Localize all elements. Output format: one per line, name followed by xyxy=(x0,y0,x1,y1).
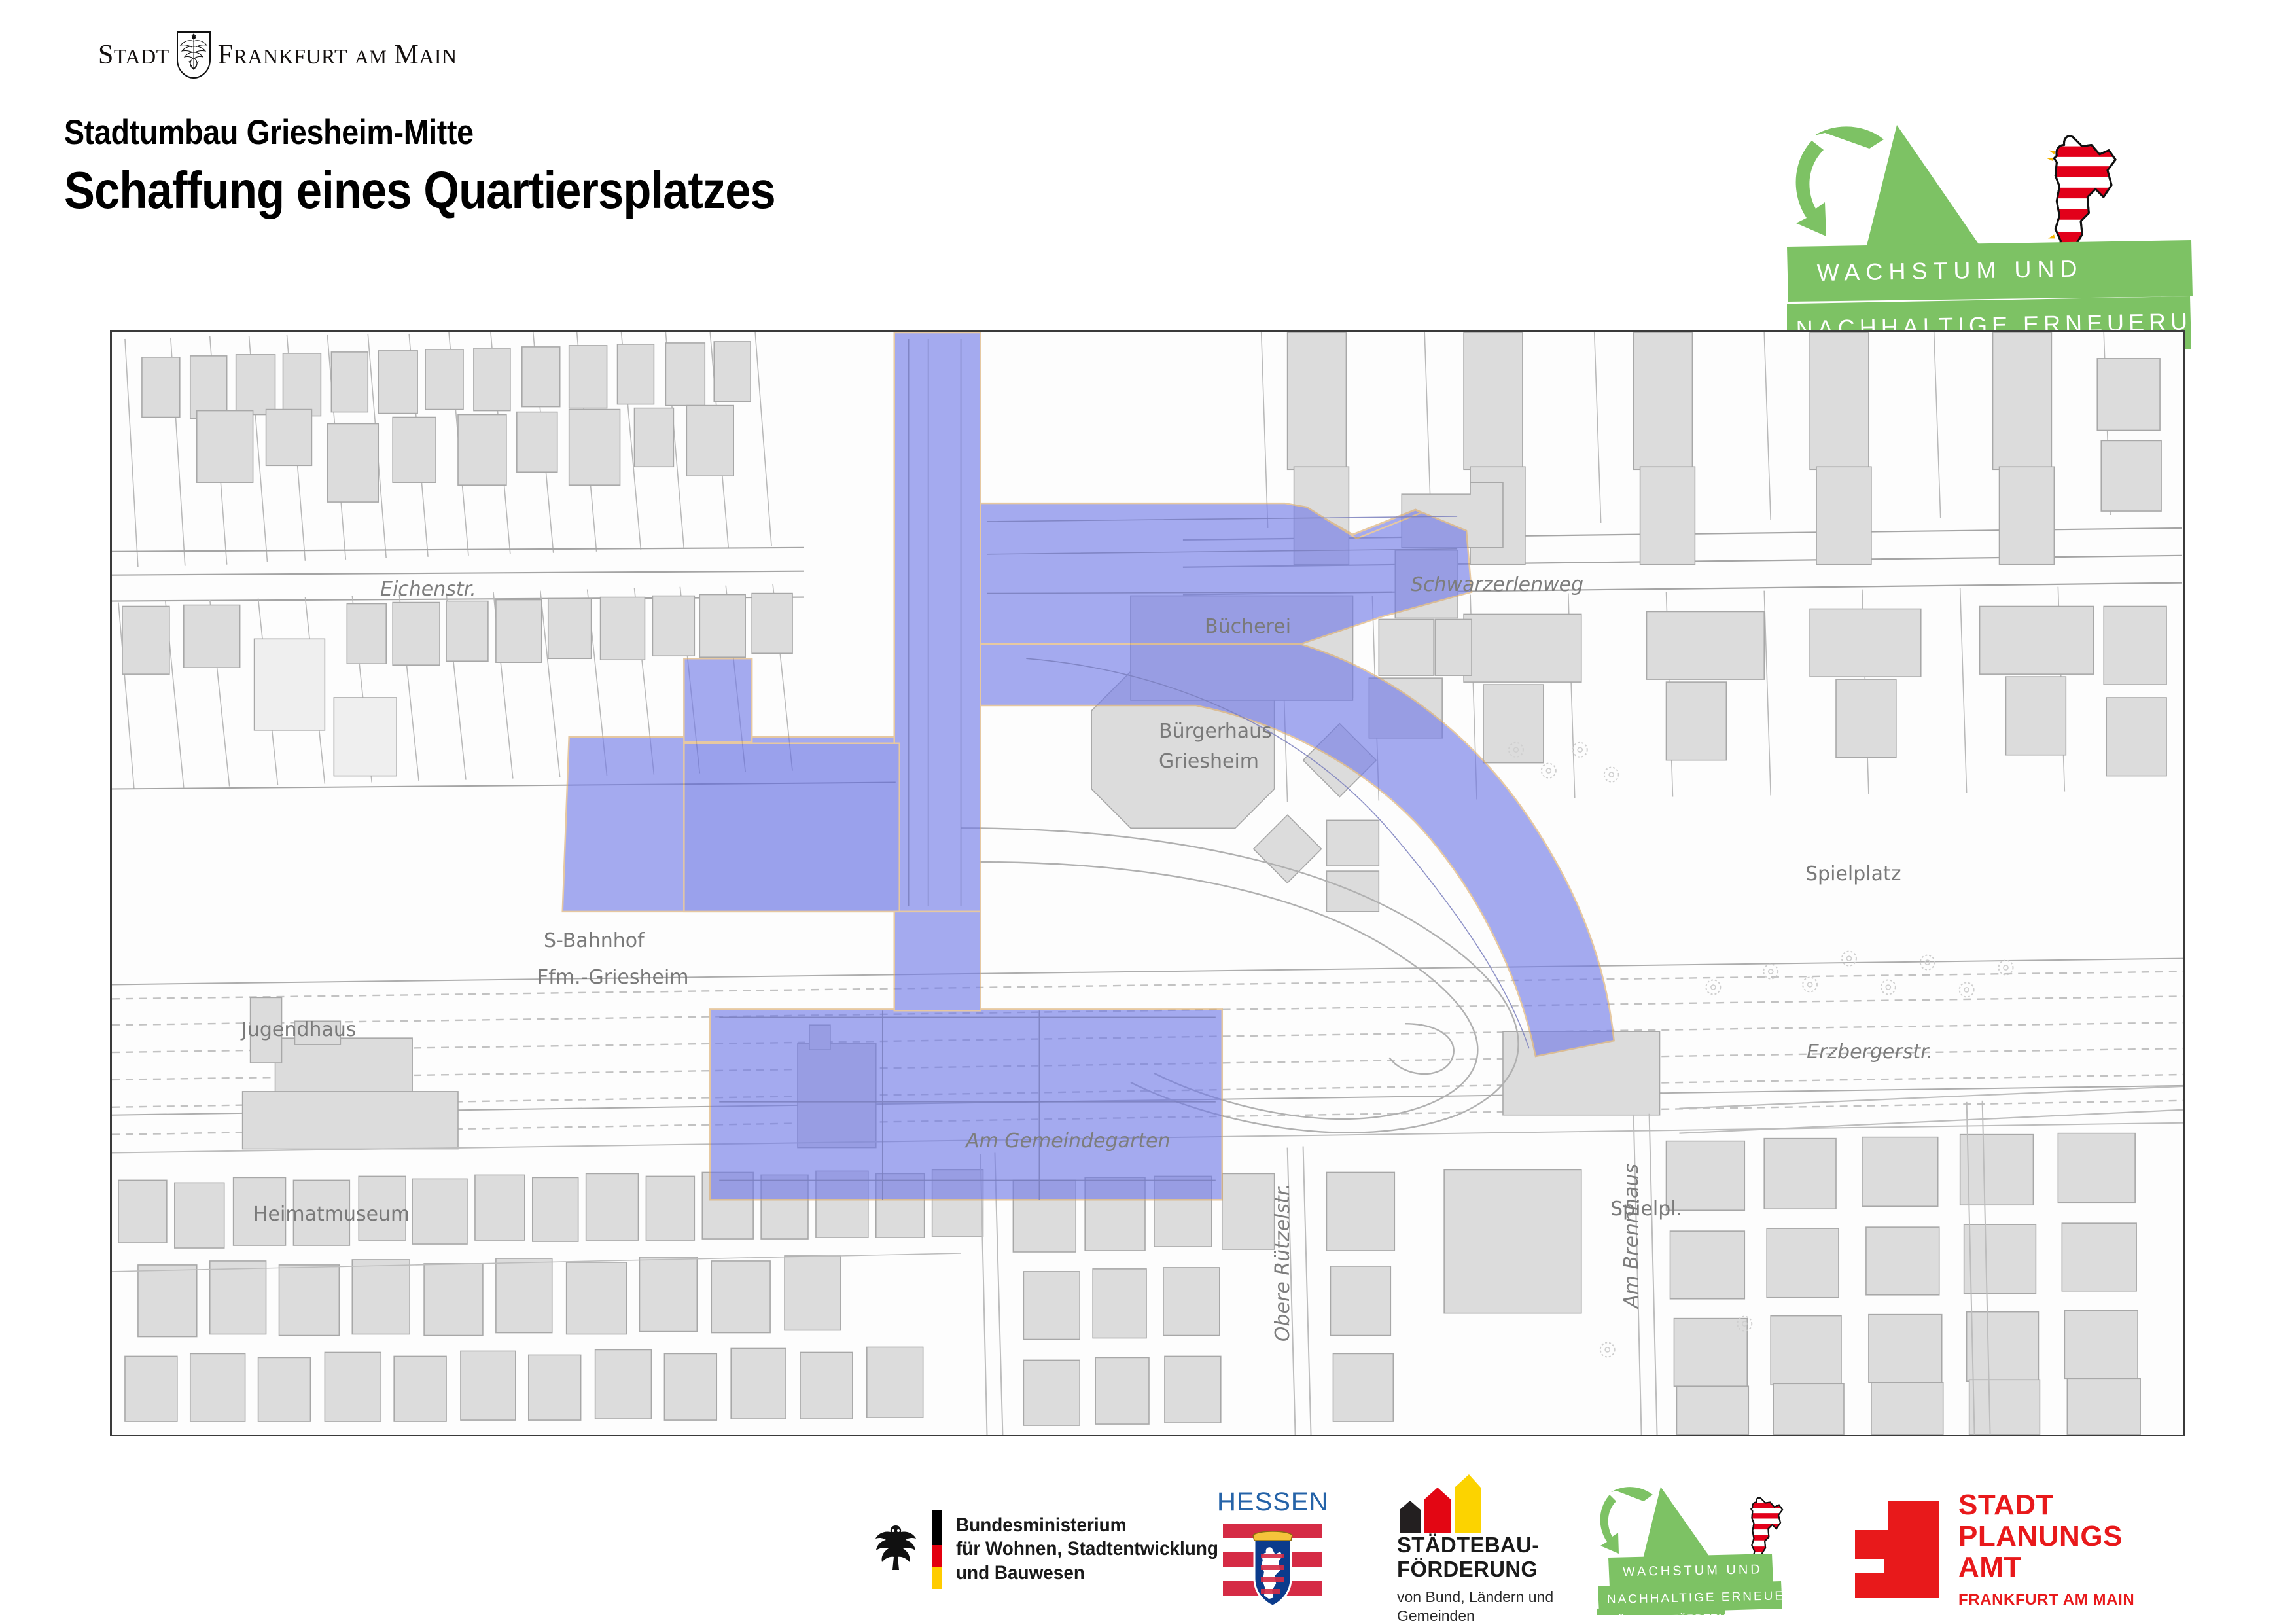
three-houses-icon xyxy=(1397,1473,1482,1533)
frankfurt-eagle-crest-icon xyxy=(176,31,211,79)
project-subtitle: Stadtumbau Griesheim-Mitte xyxy=(64,113,775,152)
hessen-wordmark: HESSEN xyxy=(1217,1488,1329,1517)
house-yellow xyxy=(1455,1474,1481,1533)
stadtplanungsamt-label: STADT PLANUNGS AMT FRANKFURT AM MAIN xyxy=(1958,1489,2134,1609)
recycle-arrow-icon-small xyxy=(1600,1487,1653,1554)
city-logo: STADT FRANKFURT AM MAIN xyxy=(98,29,457,80)
banner-wachstum-und: WACHSTUM UND xyxy=(1787,240,2193,302)
logo-stadtplanungsamt: STADT PLANUNGS AMT FRANKFURT AM MAIN xyxy=(1855,1476,2134,1623)
cadastral-map[interactable]: Eichenstr. Schwarzerlenweg Am Gemeindega… xyxy=(110,330,2185,1436)
banner-line1: WACHSTUM UND xyxy=(1816,255,2083,286)
svg-text:WACHSTUM UND: WACHSTUM UND xyxy=(1623,1562,1763,1579)
logo-bundesministerium: Bundesministerium für Wohnen, Stadtentwi… xyxy=(870,1476,1238,1623)
staedtebau-line2: FÖRDERUNG xyxy=(1397,1557,1538,1581)
staedtebau-sub1: von Bund, Ländern und xyxy=(1397,1588,1553,1605)
bmwsb-label: Bundesministerium für Wohnen, Stadtentwi… xyxy=(956,1514,1218,1586)
footer-logo-row: Bundesministerium für Wohnen, Stadtentwi… xyxy=(0,1476,2296,1623)
stadtplanungsamt-mark-icon xyxy=(1855,1501,1939,1598)
page-title: Schaffung eines Quartiersplatzes xyxy=(64,160,775,221)
staedtebau-subtitle: von Bund, Ländern und Gemeinden xyxy=(1397,1588,1553,1623)
spa-line1: STADT xyxy=(1958,1489,2054,1521)
house-red xyxy=(1424,1488,1451,1533)
map-graphics xyxy=(112,332,2183,1435)
house-black xyxy=(1400,1501,1421,1533)
poster-page: STADT FRANKFURT AM MAIN xyxy=(0,0,2296,1623)
bmwsb-line2: für Wohnen, Stadtentwicklung xyxy=(956,1538,1218,1560)
hessen-lion-icon xyxy=(2047,136,2119,259)
city-logo-text-frankfurt: FRANKFURT AM MAIN xyxy=(218,39,457,71)
city-logo-text-stadt: STADT xyxy=(98,39,169,71)
spa-city: FRANKFURT AM MAIN xyxy=(1958,1591,2134,1609)
logo-staedtebaufoerderung: STÄDTEBAU- FÖRDERUNG von Bund, Ländern u… xyxy=(1397,1476,1553,1623)
spa-line2: PLANUNGS xyxy=(1958,1520,2123,1552)
german-flag-bar-icon xyxy=(932,1510,942,1589)
staedtebau-line1: STÄDTEBAU- xyxy=(1397,1533,1539,1557)
hessen-lion-icon-small xyxy=(1750,1497,1784,1560)
bundesadler-icon xyxy=(870,1522,921,1578)
hessen-crest-icon xyxy=(1223,1521,1322,1611)
spa-line3: AMT xyxy=(1958,1551,2022,1583)
bmwsb-line3: und Bauwesen xyxy=(956,1562,1085,1584)
logo-wachstum-erneuerung-small: WACHSTUM UND NACHHALTIGE ERNEUERUNG STÄD… xyxy=(1597,1476,1826,1623)
bmwsb-line1: Bundesministerium xyxy=(956,1514,1126,1536)
recycle-arrow-icon xyxy=(1796,126,1884,236)
logo-hessen: HESSEN xyxy=(1217,1476,1329,1623)
staedtebau-sub2: Gemeinden xyxy=(1397,1607,1475,1623)
staedtebau-title: STÄDTEBAU- FÖRDERUNG xyxy=(1397,1533,1539,1581)
title-block: Stadtumbau Griesheim-Mitte Schaffung ein… xyxy=(64,113,872,221)
